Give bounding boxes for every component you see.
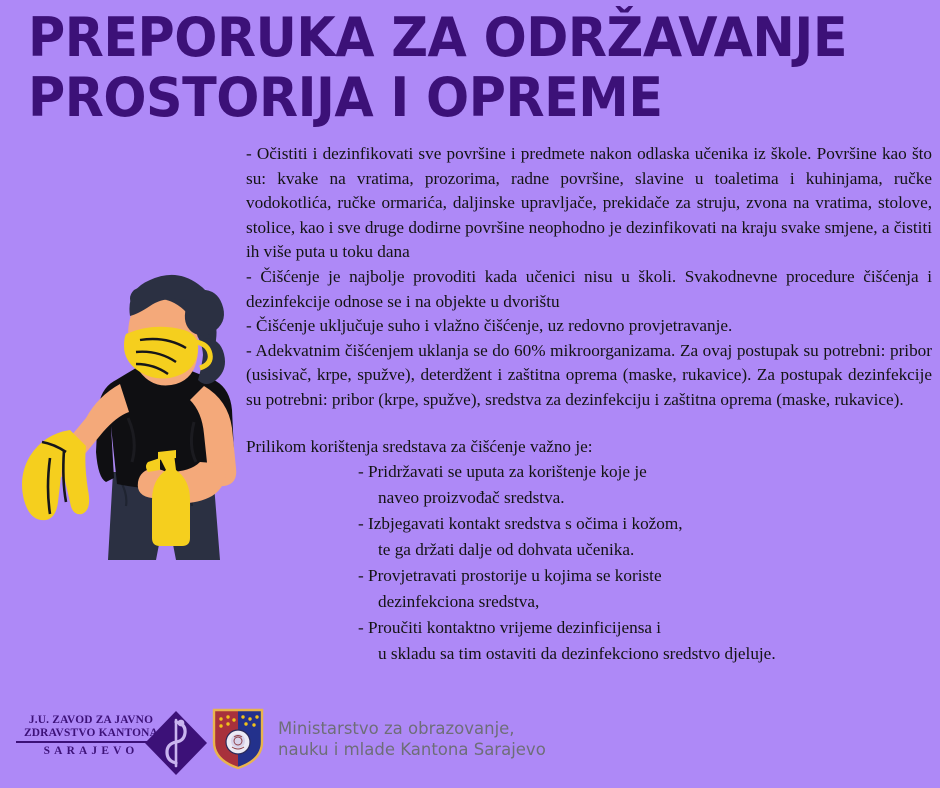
- poster-root: PREPORUKA ZA ODRŽAVANJE PROSTORIJA I OPR…: [0, 0, 940, 788]
- list-item-line-1: - Pridržavati se uputa za korištenje koj…: [246, 459, 932, 485]
- list-item-line-2: u skladu sa tim ostaviti da dezinfekcion…: [246, 641, 932, 667]
- title-line-1: PREPORUKA ZA ODRŽAVANJE: [28, 8, 855, 68]
- list-item-line-2: te ga držati dalje od dohvata učenika.: [246, 537, 932, 563]
- list-item-line-1: - Izbjegavati kontakt sredstva s očima i…: [246, 511, 932, 537]
- paragraph-spacer: [246, 413, 932, 435]
- title-line-2: PROSTORIJA I OPREME: [28, 68, 855, 128]
- body-text-column: - Očistiti i dezinfikovati sve površine …: [246, 142, 932, 667]
- guidance-bullet-list: - Pridržavati se uputa za korištenje koj…: [246, 459, 932, 667]
- cleaning-cloth-shape: [22, 430, 89, 520]
- crest-emblem-inner: [231, 734, 245, 748]
- list-item: - Proučiti kontaktno vrijeme dezinficije…: [246, 615, 932, 667]
- list-item-line-1: - Provjetravati prostorije u kojima se k…: [246, 563, 932, 589]
- list-item: - Provjetravati prostorije u kojima se k…: [246, 563, 932, 615]
- footer: J.U. ZAVOD ZA JAVNO ZDRAVSTVO KANTONA SA…: [0, 700, 940, 788]
- ministry-line-1: Ministarstvo za obrazovanje,: [278, 718, 546, 739]
- page-title: PREPORUKA ZA ODRŽAVANJE PROSTORIJA I OPR…: [28, 8, 908, 128]
- asclepius-diamond-icon: [144, 710, 208, 776]
- ministry-line-2: nauku i mlade Kantona Sarajevo: [278, 739, 546, 760]
- serpent-head: [178, 720, 185, 727]
- hair-bun-shape: [185, 290, 224, 336]
- list-item: - Izbjegavati kontakt sredstva s očima i…: [246, 511, 932, 563]
- list-item-line-2: naveo proizvođač sredstva.: [246, 485, 932, 511]
- paragraph-2: - Čišćenje je najbolje provoditi kada uč…: [246, 265, 932, 314]
- list-lead-in: Prilikom korištenja sredstava za čišćenj…: [246, 435, 932, 460]
- list-item: - Pridržavati se uputa za korištenje koj…: [246, 459, 932, 511]
- sarajevo-canton-crest-icon: [212, 708, 264, 770]
- ministry-logo-text: Ministarstvo za obrazovanje, nauku i mla…: [278, 718, 546, 760]
- zzjz-logo: J.U. ZAVOD ZA JAVNO ZDRAVSTVO KANTONA SA…: [16, 710, 206, 778]
- list-item-line-1: - Proučiti kontaktno vrijeme dezinficije…: [246, 615, 932, 641]
- paragraph-1: - Očistiti i dezinfikovati sve površine …: [246, 142, 932, 265]
- cleaning-person-illustration: [8, 272, 258, 560]
- paragraph-3: - Čišćenje uključuje suho i vlažno čišće…: [246, 314, 932, 339]
- list-item-line-2: dezinfekciona sredstva,: [246, 589, 932, 615]
- paragraph-4: - Adekvatnim čišćenjem uklanja se do 60%…: [246, 339, 932, 413]
- ministry-logo: Ministarstvo za obrazovanje, nauku i mla…: [212, 708, 546, 770]
